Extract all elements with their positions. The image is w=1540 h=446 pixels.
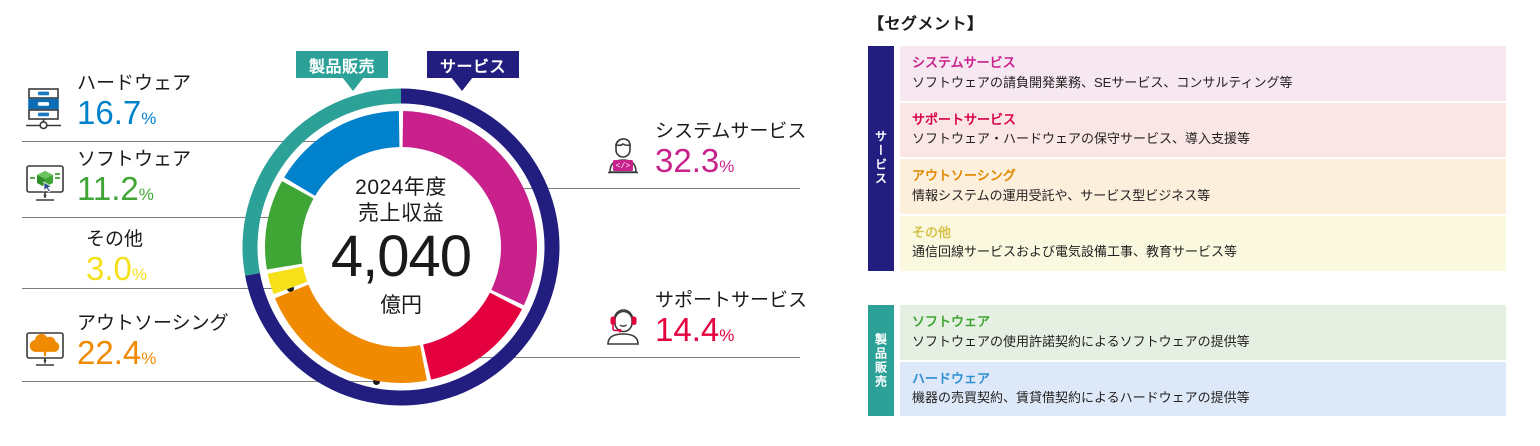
donut-inner-slice bbox=[423, 293, 522, 380]
segment-group-product: 製品販売 ソフトウェア ソフトウェアの使用許諾契約によるソフトウェアの提供等 ハ… bbox=[868, 305, 1506, 416]
segment-row-desc: 通信回線サービスおよび電気設備工事、教育サービス等 bbox=[912, 242, 1506, 262]
segment-row-name: サポートサービス bbox=[912, 110, 1506, 130]
label-support-service-value: 14.4% bbox=[655, 313, 807, 348]
segment-row[interactable]: その他 通信回線サービスおよび電気設備工事、教育サービス等 bbox=[900, 216, 1506, 271]
developer-laptop-icon: </> bbox=[600, 132, 646, 178]
badge-service: サービス bbox=[427, 51, 519, 78]
donut-ring-inner bbox=[265, 111, 537, 383]
segment-group-service: サービス システムサービス ソフトウェアの請負開発業務、SEサービス、コンサルテ… bbox=[868, 46, 1506, 271]
label-outsourcing-name: アウトソーシング bbox=[77, 312, 229, 336]
segment-group-service-tab: サービス bbox=[868, 46, 894, 271]
label-outsourcing-value: 22.4% bbox=[77, 336, 229, 371]
label-hardware-name: ハードウェア bbox=[77, 72, 191, 96]
segment-row[interactable]: サポートサービス ソフトウェア・ハードウェアの保守サービス、導入支援等 bbox=[900, 103, 1506, 158]
segment-row[interactable]: ハードウェア 機器の売買契約、賃貸借契約によるハードウェアの提供等 bbox=[900, 362, 1506, 417]
label-others-value: 3.0% bbox=[86, 252, 147, 287]
segment-row-name: その他 bbox=[912, 223, 1506, 243]
donut-chart: 2024年度 売上収益 4,040 億円 bbox=[236, 82, 566, 412]
segment-row-desc: ソフトウェアの使用許諾契約によるソフトウェアの提供等 bbox=[912, 332, 1506, 352]
segment-group-product-rows: ソフトウェア ソフトウェアの使用許諾契約によるソフトウェアの提供等 ハードウェア… bbox=[900, 305, 1506, 416]
server-rack-icon bbox=[22, 84, 68, 130]
label-others-name: その他 bbox=[86, 228, 147, 252]
segment-row-name: ソフトウェア bbox=[912, 312, 1506, 332]
segment-group-service-rows: システムサービス ソフトウェアの請負開発業務、SEサービス、コンサルティング等 … bbox=[900, 46, 1506, 271]
headset-agent-icon bbox=[600, 301, 646, 347]
segment-row-desc: 情報システムの運用受託や、サービス型ビジネス等 bbox=[912, 186, 1506, 206]
svg-text:</>: </> bbox=[616, 162, 631, 171]
segment-row[interactable]: システムサービス ソフトウェアの請負開発業務、SEサービス、コンサルティング等 bbox=[900, 46, 1506, 101]
label-system-service-name: システムサービス bbox=[655, 120, 806, 144]
label-support-service-name: サポートサービス bbox=[655, 289, 807, 313]
label-system-service-value: 32.3% bbox=[655, 144, 806, 179]
badge-service-label: サービス bbox=[440, 53, 506, 77]
infographic-root: 製品販売 サービス 2024年度 売上収益 bbox=[0, 0, 1540, 446]
donut-inner-slice bbox=[275, 285, 427, 383]
segment-row-desc: ソフトウェアの請負開発業務、SEサービス、コンサルティング等 bbox=[912, 73, 1506, 93]
segment-row-desc: ソフトウェア・ハードウェアの保守サービス、導入支援等 bbox=[912, 129, 1506, 149]
segment-row-name: アウトソーシング bbox=[912, 166, 1506, 186]
segment-panel: 【セグメント】 サービス システムサービス ソフトウェアの請負開発業務、SEサー… bbox=[868, 0, 1540, 446]
segment-row-desc: 機器の売買契約、賃貸借契約によるハードウェアの提供等 bbox=[912, 388, 1506, 408]
cloud-upload-monitor-icon bbox=[22, 324, 68, 370]
segment-row-name: システムサービス bbox=[912, 53, 1506, 73]
segment-row[interactable]: ソフトウェア ソフトウェアの使用許諾契約によるソフトウェアの提供等 bbox=[900, 305, 1506, 360]
label-software-name: ソフトウェア bbox=[77, 148, 191, 172]
label-software-value: 11.2% bbox=[77, 172, 191, 207]
donut-svg bbox=[236, 82, 566, 412]
segment-group-product-tab: 製品販売 bbox=[868, 305, 894, 416]
panel-title: 【セグメント】 bbox=[868, 10, 984, 34]
segment-row-name: ハードウェア bbox=[912, 369, 1506, 389]
badge-product-sales: 製品販売 bbox=[296, 51, 388, 78]
badge-product-sales-label: 製品販売 bbox=[309, 53, 375, 77]
software-box-monitor-icon bbox=[22, 160, 68, 206]
donut-inner-slice bbox=[265, 181, 314, 269]
label-hardware-value: 16.7% bbox=[77, 96, 191, 131]
donut-chart-area: 製品販売 サービス 2024年度 売上収益 bbox=[0, 0, 860, 446]
segment-row[interactable]: アウトソーシング 情報システムの運用受託や、サービス型ビジネス等 bbox=[900, 159, 1506, 214]
